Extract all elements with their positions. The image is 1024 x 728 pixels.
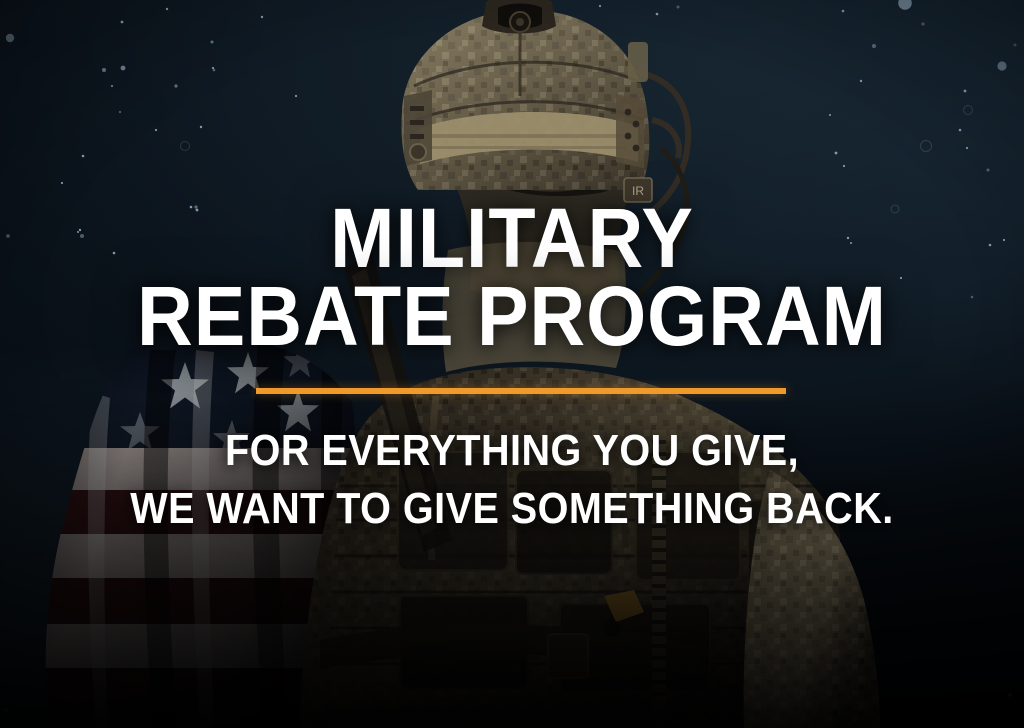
military-rebate-banner: IR MILITARY REBATE PROGRAM FOR EVERYTHIN… (0, 0, 1024, 728)
vignette-overlay (0, 0, 1024, 728)
